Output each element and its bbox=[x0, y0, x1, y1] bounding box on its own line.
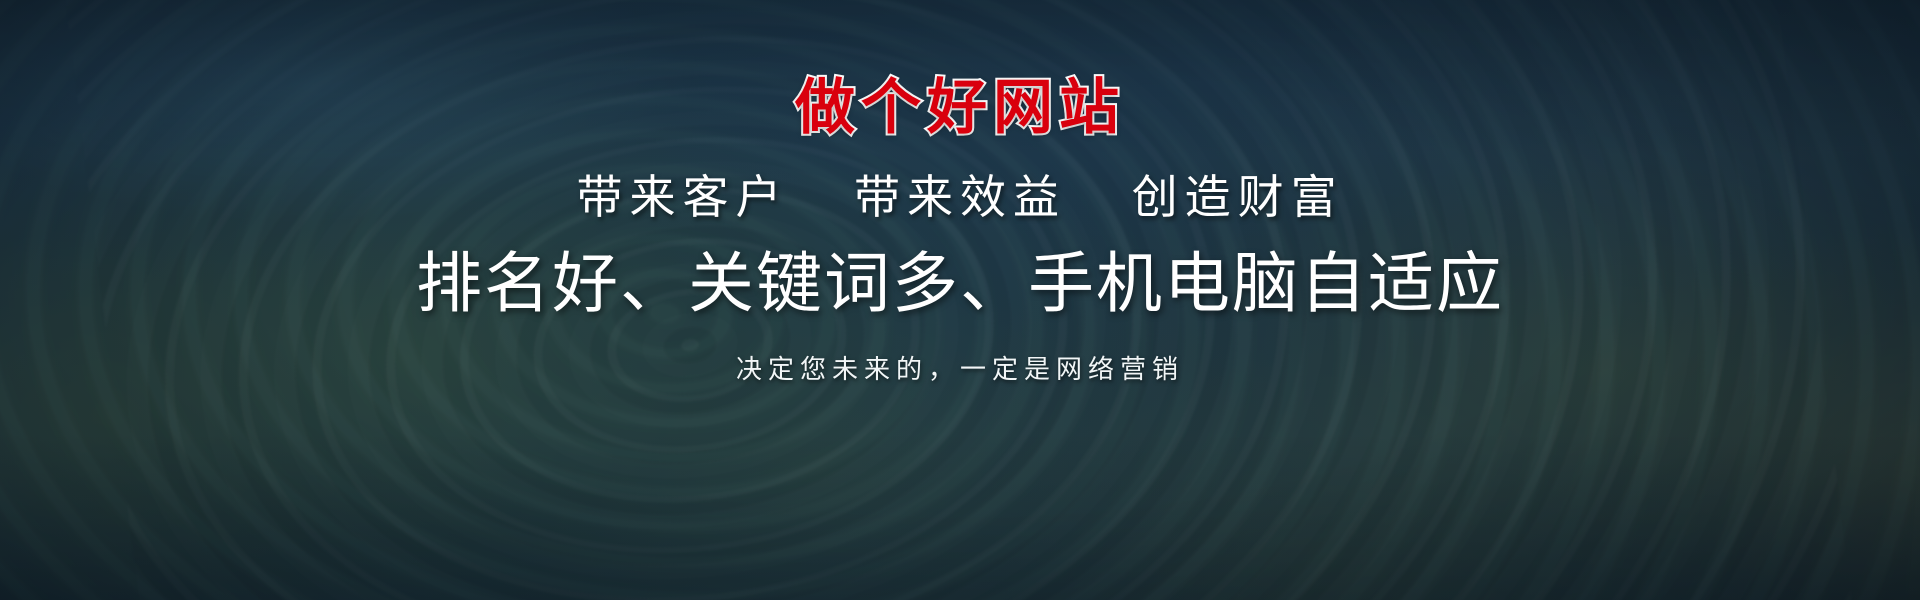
banner-text-stack: 做个好网站 带来客户 带来效益 创造财富 排名好、关键词多、手机电脑自适应 决定… bbox=[0, 0, 1920, 600]
banner-headline: 做个好网站 bbox=[795, 78, 1125, 138]
subline-part-2: 带来效益 bbox=[854, 171, 1066, 223]
subline-part-1: 带来客户 bbox=[576, 171, 788, 223]
promo-banner: 做个好网站 带来客户 带来效益 创造财富 排名好、关键词多、手机电脑自适应 决定… bbox=[0, 0, 1920, 600]
subline-part-3: 创造财富 bbox=[1132, 171, 1344, 223]
banner-tagline: 决定您未来的，一定是网络营销 bbox=[736, 356, 1184, 382]
banner-mainline: 排名好、关键词多、手机电脑自适应 bbox=[416, 250, 1504, 316]
banner-subline: 带来客户 带来效益 创造财富 bbox=[576, 174, 1343, 220]
